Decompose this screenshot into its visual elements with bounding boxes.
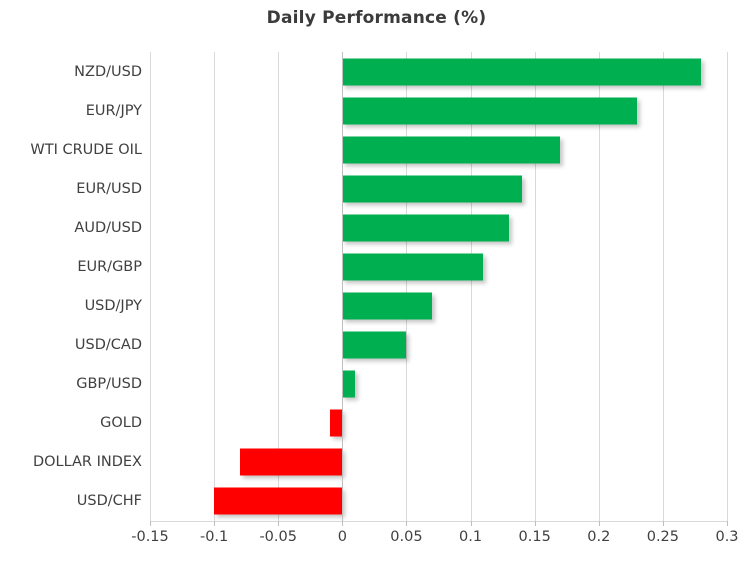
x-axis-tick-label: -0.15 — [131, 529, 169, 545]
x-axis-tick-label: 0.15 — [519, 529, 551, 545]
plot-area — [150, 52, 727, 521]
value-axis: -0.15-0.1-0.0500.050.10.150.20.250.3 — [150, 521, 727, 561]
category-label-dollar-index: DOLLAR INDEX — [0, 454, 142, 470]
bar-eur-jpy[interactable] — [342, 97, 637, 124]
bar-eur-usd[interactable] — [342, 175, 522, 202]
category-label-aud-usd: AUD/USD — [0, 220, 142, 236]
bar-gold[interactable] — [330, 410, 343, 437]
bar-usd-chf[interactable] — [214, 488, 342, 515]
category-label-usd-cad: USD/CAD — [0, 337, 142, 353]
x-axis-tick-mark — [663, 521, 664, 526]
bar-nzd-usd[interactable] — [342, 58, 701, 85]
x-axis-tick-label: 0.1 — [459, 529, 482, 545]
x-axis-tick-mark — [599, 521, 600, 526]
x-axis-tick-label: 0.05 — [390, 529, 422, 545]
category-label-eur-gbp: EUR/GBP — [0, 259, 142, 275]
category-label-gbp-usd: GBP/USD — [0, 376, 142, 392]
x-axis-tick-label: 0.25 — [647, 529, 679, 545]
bar-eur-gbp[interactable] — [342, 253, 483, 280]
x-axis-tick-mark — [535, 521, 536, 526]
x-axis-tick-label: 0.3 — [715, 529, 738, 545]
x-axis-tick-mark — [342, 521, 343, 526]
x-axis-tick-mark — [471, 521, 472, 526]
x-axis-tick-mark — [150, 521, 151, 526]
category-label-wti-crude-oil: WTI CRUDE OIL — [0, 142, 142, 158]
category-label-eur-usd: EUR/USD — [0, 181, 142, 197]
category-label-usd-jpy: USD/JPY — [0, 298, 142, 314]
bar-aud-usd[interactable] — [342, 214, 509, 241]
x-axis-tick-mark — [406, 521, 407, 526]
x-axis-tick-label: 0 — [338, 529, 347, 545]
gridline — [663, 52, 664, 521]
category-label-nzd-usd: NZD/USD — [0, 64, 142, 80]
gridline — [214, 52, 215, 521]
category-label-usd-chf: USD/CHF — [0, 493, 142, 509]
bar-wti-crude-oil[interactable] — [342, 136, 560, 163]
gridline — [727, 52, 728, 521]
zero-gridline — [342, 52, 343, 521]
x-axis-tick-mark — [214, 521, 215, 526]
chart-title: Daily Performance (%) — [0, 8, 753, 28]
x-axis-tick-label: -0.1 — [200, 529, 228, 545]
category-label-eur-jpy: EUR/JPY — [0, 103, 142, 119]
bar-usd-cad[interactable] — [342, 332, 406, 359]
x-axis-tick-mark — [278, 521, 279, 526]
x-axis-tick-mark — [727, 521, 728, 526]
category-axis: NZD/USDEUR/JPYWTI CRUDE OILEUR/USDAUD/US… — [0, 52, 142, 521]
daily-performance-bar-chart: Daily Performance (%) NZD/USDEUR/JPYWTI … — [0, 0, 753, 568]
bar-usd-jpy[interactable] — [342, 293, 432, 320]
x-axis-tick-label: -0.05 — [259, 529, 297, 545]
bar-gbp-usd[interactable] — [342, 371, 355, 398]
category-label-gold: GOLD — [0, 415, 142, 431]
bar-dollar-index[interactable] — [240, 449, 343, 476]
gridline — [150, 52, 151, 521]
x-axis-tick-label: 0.2 — [587, 529, 610, 545]
